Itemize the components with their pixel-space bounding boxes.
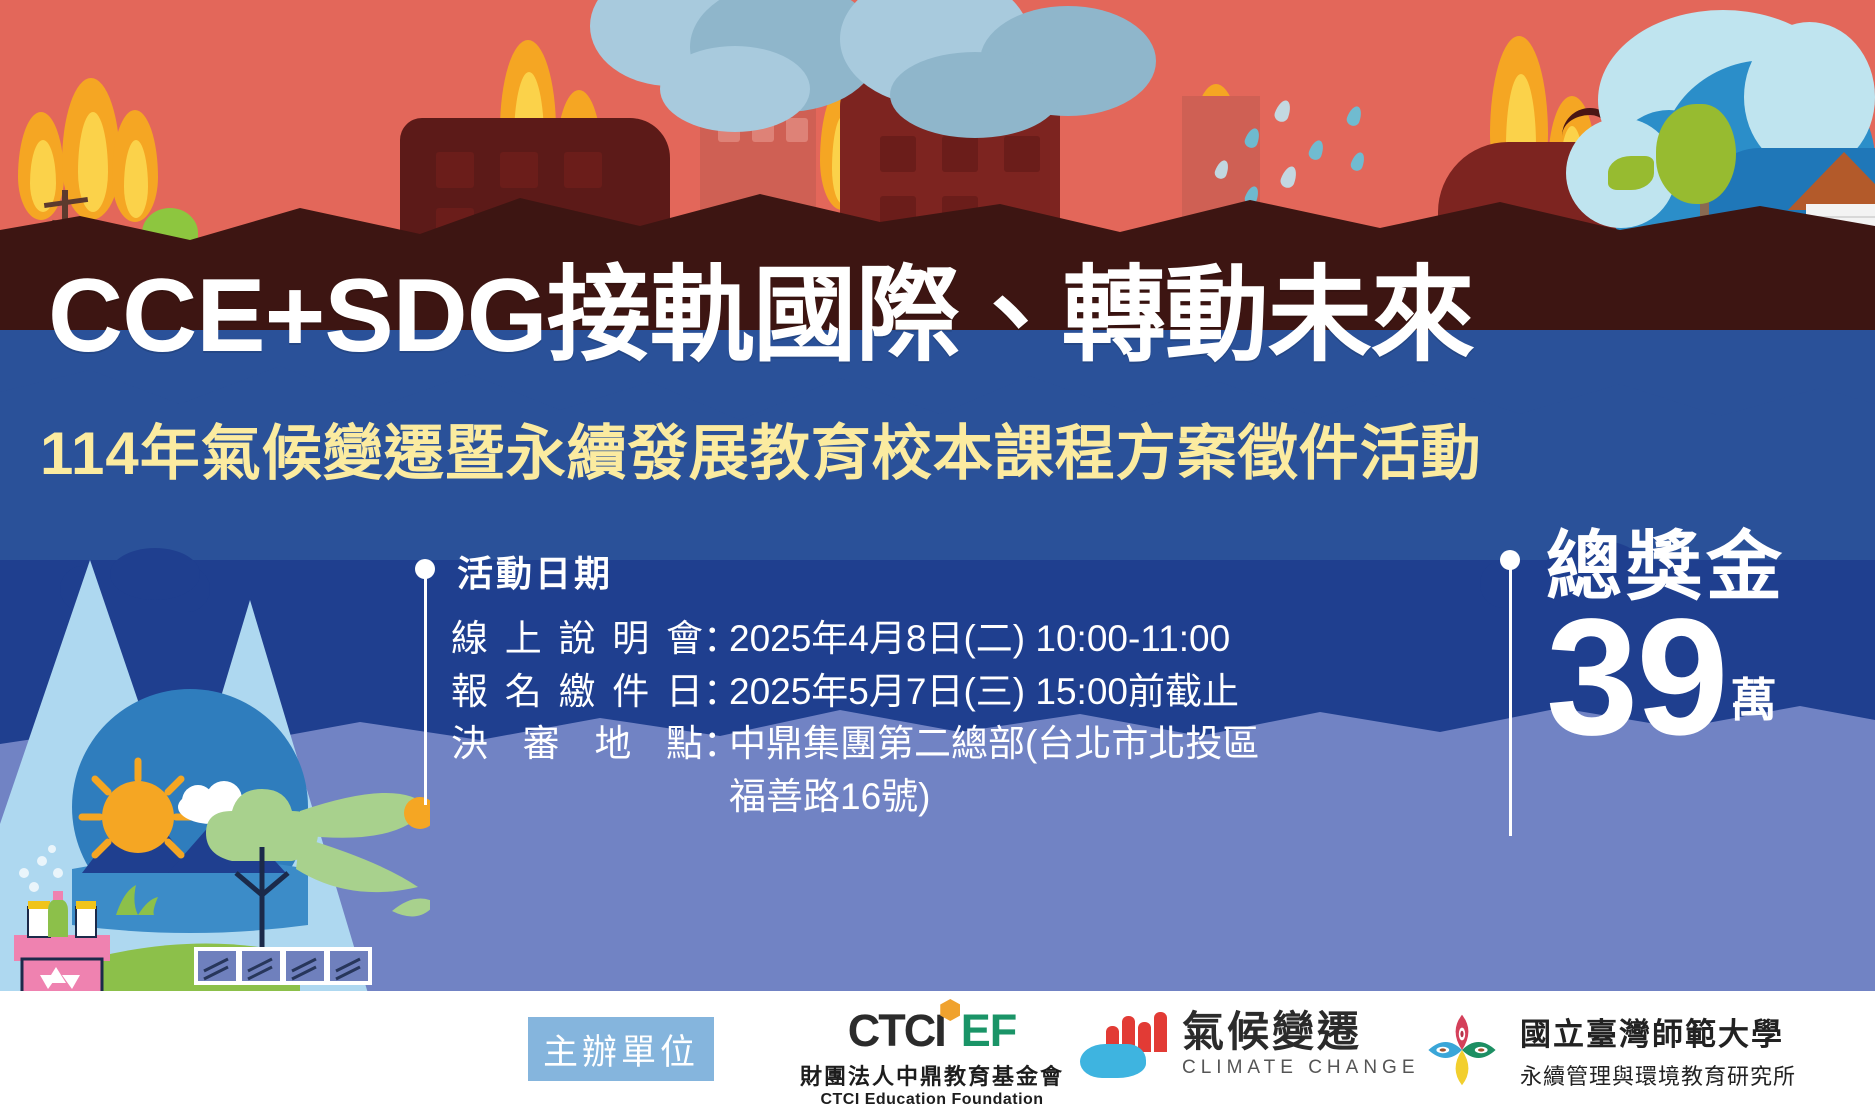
detail-label: 決 審 地 點 <box>451 718 703 771</box>
logo-climate-change: 氣候變遷 CLIMATE CHANGE <box>1080 1011 1420 1079</box>
detail-colon: ： <box>703 718 729 771</box>
detail-colon: ： <box>703 666 729 719</box>
label-char: 報 <box>451 666 488 719</box>
ntnu-university-name: 國立臺灣師範大學 <box>1520 1009 1796 1054</box>
prize-amount: 39 <box>1546 610 1727 746</box>
poster-title: CCE+SDG接軌國際、轉動未來 <box>48 262 1838 371</box>
taiwan-map-icon <box>1080 1044 1146 1078</box>
label-char: 會 <box>666 613 703 666</box>
footer-bar: 主辦單位 CTCI EF 財團法人中鼎教育基金會 CTCI Education … <box>0 991 1875 1109</box>
ntnu-text: 國立臺灣師範大學 永續管理與環境教育研究所 <box>1520 1009 1796 1091</box>
event-details-block: 活動日期 線 上 說 明 會 ： 2025年4月8日(二) 10:00-11:0… <box>415 545 1259 823</box>
sustainability-illustration <box>0 611 430 991</box>
ntnu-emblem-icon <box>1420 1010 1504 1090</box>
climate-change-text: 氣候變遷 CLIMATE CHANGE <box>1182 1011 1420 1079</box>
label-char: 名 <box>505 666 542 719</box>
detail-label: 報 名 繳 件 日 <box>451 666 703 719</box>
label-char: 線 <box>451 613 488 666</box>
prize-amount-wrap: 39 萬 <box>1546 610 1786 746</box>
ctci-name-english: CTCI Education Foundation <box>820 1091 1043 1109</box>
ctci-ef-suffix: EF <box>961 1005 1017 1057</box>
logo-ctci-ef: CTCI EF 財團法人中鼎教育基金會 CTCI Education Found… <box>800 1005 1064 1109</box>
label-char: 明 <box>612 613 649 666</box>
title-latin: CCE+SDG <box>48 258 547 374</box>
label-char: 地 <box>594 718 631 771</box>
total-prize-block: 總獎金 39 萬 <box>1500 530 1786 746</box>
details-heading: 活動日期 <box>457 545 1259 597</box>
ctci-wordmark: CTCI <box>848 1005 945 1057</box>
label-char: 說 <box>559 613 596 666</box>
ctci-wordmark-row: CTCI EF <box>848 1005 1017 1057</box>
prize-vertical-rule <box>1509 566 1512 836</box>
organizer-badge: 主辦單位 <box>528 1017 714 1081</box>
details-rows: 線 上 說 明 會 ： 2025年4月8日(二) 10:00-11:00 報 名… <box>451 613 1259 771</box>
climate-chart-icon <box>1080 1012 1172 1078</box>
label-char: 件 <box>612 666 649 719</box>
detail-value: 2025年5月7日(三) 15:00前截止 <box>729 666 1239 719</box>
poster-subtitle: 114年氣候變遷暨永續發展教育校本課程方案徵件活動 <box>40 405 1482 492</box>
details-vertical-rule <box>424 575 427 805</box>
ctci-name-chinese: 財團法人中鼎教育基金會 <box>800 1059 1064 1091</box>
detail-row-submission-deadline: 報 名 繳 件 日 ： 2025年5月7日(三) 15:00前截止 <box>451 666 1259 719</box>
poster-root: CCE+SDG接軌國際、轉動未來 114年氣候變遷暨永續發展教育校本課程方案徵件… <box>0 0 1875 1109</box>
label-char: 日 <box>666 666 703 719</box>
detail-row-online-session: 線 上 說 明 會 ： 2025年4月8日(二) 10:00-11:00 <box>451 613 1259 666</box>
climate-name-chinese: 氣候變遷 <box>1182 1011 1420 1053</box>
title-chinese: 接軌國際、轉動未來 <box>547 258 1474 374</box>
label-char: 繳 <box>559 666 596 719</box>
detail-value: 中鼎集團第二總部(台北市北投區 <box>729 718 1259 771</box>
logo-ntnu-gisee: 國立臺灣師範大學 永續管理與環境教育研究所 <box>1420 1009 1796 1091</box>
detail-row-final-venue: 決 審 地 點 ： 中鼎集團第二總部(台北市北投區 <box>451 718 1259 771</box>
label-char: 審 <box>523 718 560 771</box>
label-char: 點 <box>666 718 703 771</box>
detail-value-continuation: 福善路16號) <box>451 771 1259 824</box>
label-char: 決 <box>451 718 488 771</box>
label-char: 上 <box>505 613 542 666</box>
prize-unit: 萬 <box>1731 664 1777 730</box>
detail-colon: ： <box>703 613 729 666</box>
detail-label: 線 上 說 明 會 <box>451 613 703 666</box>
ntnu-institute-name: 永續管理與環境教育研究所 <box>1520 1059 1796 1091</box>
climate-name-english: CLIMATE CHANGE <box>1182 1057 1420 1079</box>
detail-value: 2025年4月8日(二) 10:00-11:00 <box>729 613 1230 666</box>
